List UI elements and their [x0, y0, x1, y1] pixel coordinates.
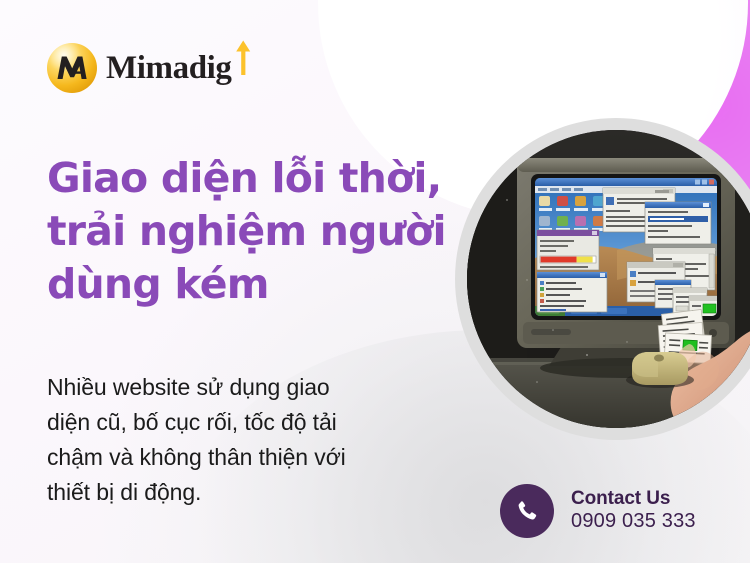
contact-title: Contact Us [571, 488, 696, 510]
contact-text: Contact Us 0909 035 333 [571, 488, 696, 534]
phone-icon[interactable] [500, 484, 554, 538]
headline-line-2: trải nghiệm người [47, 205, 447, 258]
brand-logo: Mimadig [47, 43, 252, 93]
growth-arrow-icon [234, 39, 252, 75]
photo-ring [455, 118, 750, 440]
brand-wordmark: Mimadig [106, 52, 252, 85]
legacy-computer-photo [467, 130, 750, 428]
headline-line-3: dùng kém [47, 258, 447, 311]
mimadig-monogram-icon [47, 43, 97, 93]
contact-block[interactable]: Contact Us 0909 035 333 [500, 484, 696, 538]
contact-phone[interactable]: 0909 035 333 [571, 510, 696, 534]
body-line-1: Nhiều website sử dụng giao [47, 370, 422, 405]
headline-line-1: Giao diện lỗi thời, [47, 152, 447, 205]
body-paragraph: Nhiều website sử dụng giao diện cũ, bố c… [47, 370, 422, 510]
poster-canvas: Mimadig Giao diện lỗi thời, trải nghiệm … [0, 0, 750, 563]
brand-wordmark-text: Mimadig [106, 50, 232, 86]
body-line-3: chậm và không thân thiện với [47, 440, 422, 475]
body-line-4: thiết bị di động. [47, 475, 422, 510]
photo-circle [467, 130, 750, 428]
body-line-2: diện cũ, bố cục rối, tốc độ tải [47, 405, 422, 440]
page-title: Giao diện lỗi thời, trải nghiệm người dù… [47, 152, 447, 311]
